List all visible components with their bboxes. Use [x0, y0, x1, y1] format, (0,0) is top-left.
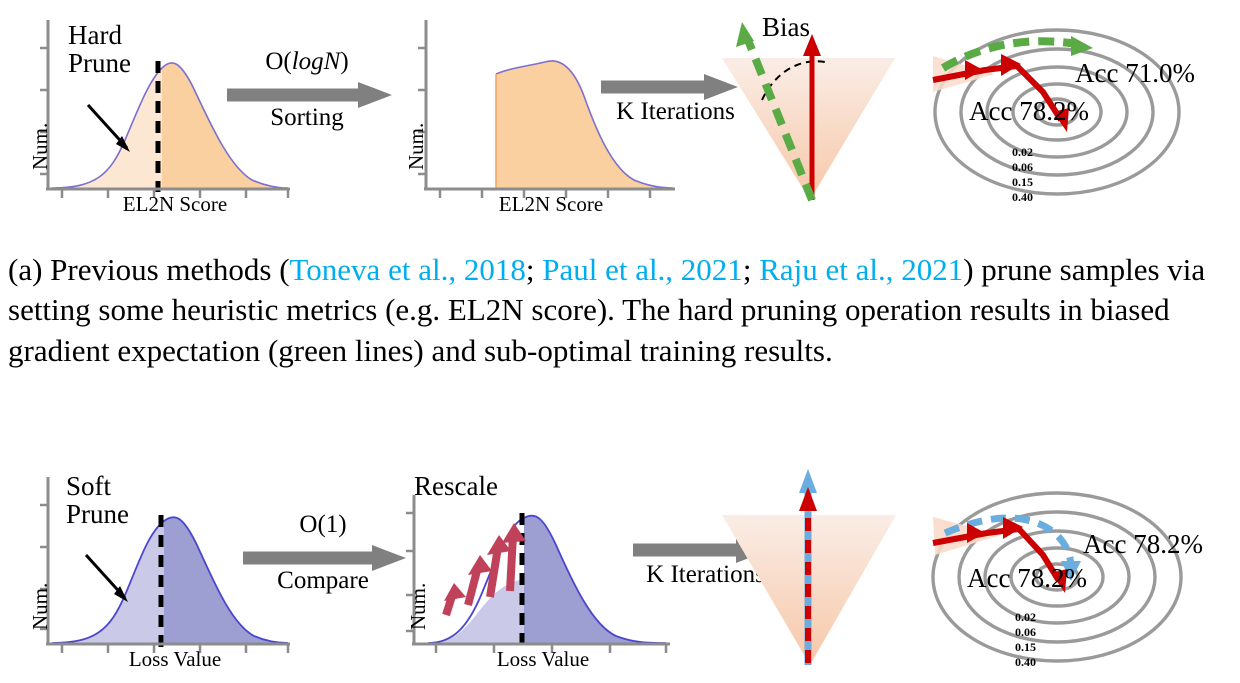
figure-root: Num.	[0, 0, 1240, 682]
caption-segment-3: ;	[743, 252, 759, 287]
citation-raju[interactable]: Raju et al., 2021	[759, 252, 963, 287]
sorting-label: Sorting	[222, 104, 392, 132]
y-axis-label: Num.	[28, 123, 53, 170]
annotation-line-2: Prune	[66, 501, 129, 529]
gradient-cone-diagram	[700, 455, 930, 683]
acc-outer-label: Acc 78.2%	[1083, 529, 1203, 560]
gradient-cone-diagram	[700, 0, 930, 225]
panel-bottom-gradient-cone	[700, 455, 930, 680]
y-axis-label: Num.	[406, 583, 431, 630]
complexity-italic: logN	[292, 48, 341, 75]
acc-inner-label: Acc 78.2%	[967, 563, 1087, 594]
acc-inner-label: Acc 78.2%	[969, 96, 1089, 127]
y-axis-label: Num.	[404, 123, 429, 170]
x-axis-label: Loss Value	[428, 647, 658, 672]
top-row-previous-methods: Num.	[0, 0, 1240, 225]
hard-prune-pointer-arrow	[88, 105, 130, 152]
panel-top-arrow-sorting: O(logN) Sorting	[222, 0, 402, 225]
annotation-line-1: Hard	[68, 22, 131, 50]
caption-segment-2: ;	[526, 252, 542, 287]
bias-label: Bias	[762, 12, 810, 43]
citation-paul[interactable]: Paul et al., 2021	[542, 252, 743, 287]
rescale-annotation: Rescale	[414, 473, 498, 501]
citation-toneva[interactable]: Toneva et al., 2018	[290, 252, 526, 287]
compare-label: Compare	[238, 567, 408, 595]
complexity-prefix: O(	[265, 48, 291, 75]
figure-caption: (a) Previous methods (Toneva et al., 201…	[8, 250, 1236, 371]
panel-bottom-arrow-compare: O(1) Compare	[238, 455, 418, 680]
complexity-suffix: )	[340, 48, 348, 75]
hard-prune-annotation: Hard Prune	[68, 22, 131, 77]
annotation-line-1: Soft	[66, 473, 129, 501]
soft-prune-pointer-arrow	[86, 555, 128, 602]
acc-outer-label: Acc 71.0%	[1075, 58, 1195, 89]
panel-top-loss-landscape: Acc 71.0% Acc 78.2% 0.02 0.06 0.15 0.40	[925, 0, 1240, 225]
annotation-line-2: Prune	[68, 50, 131, 78]
y-axis-label: Num.	[28, 583, 53, 630]
cone-shape	[722, 58, 895, 200]
panel-bottom-loss-landscape: Acc 78.2% Acc 78.2% 0.02 0.06 0.15 0.40	[925, 455, 1240, 680]
panel-top-gradient-cone: Bias	[700, 0, 930, 225]
sorting-complexity-label: O(logN)	[222, 48, 392, 76]
soft-prune-annotation: Soft Prune	[66, 473, 129, 528]
caption-segment-1: (a) Previous methods (	[8, 252, 290, 287]
compare-complexity-label: O(1)	[238, 511, 408, 539]
bottom-row-proposed-method: Num.	[0, 455, 1240, 680]
